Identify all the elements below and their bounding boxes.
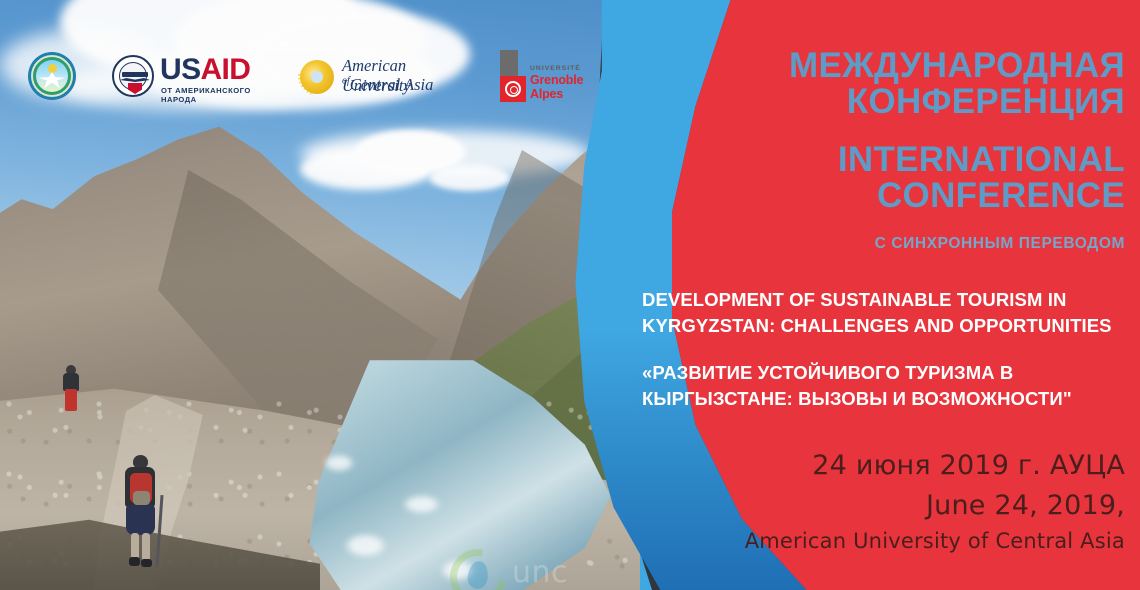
usaid-wordmark: USAID bbox=[160, 53, 250, 87]
heading-en-line2: CONFERENCE bbox=[620, 178, 1125, 214]
usaid-word-aid: AID bbox=[200, 53, 250, 86]
cloud bbox=[430, 165, 510, 191]
usaid-logo: USAID ОТ АМЕРИКАНСКОГО НАРОДА bbox=[112, 52, 264, 100]
auca-central-asia: Central Asia bbox=[350, 75, 434, 94]
event-details: 24 июня 2019 г. АУЦА June 24, 2019, Amer… bbox=[620, 450, 1125, 553]
universite-grenoble-alpes-logo: UNIVERSITÉ Grenoble Alpes bbox=[500, 50, 582, 104]
sponsor-logo-bar: USAID ОТ АМЕРИКАНСКОГО НАРОДА American U… bbox=[0, 0, 600, 130]
grenoble-spiral-icon bbox=[505, 81, 521, 97]
hiker-legs bbox=[65, 389, 77, 411]
usaid-seal-shield-icon bbox=[128, 83, 142, 94]
auca-name-line2: ofCentral Asia bbox=[342, 75, 433, 95]
kyrgyz-republic-emblem-icon bbox=[28, 52, 76, 100]
usaid-seal-bar bbox=[122, 72, 148, 77]
heading-ru-line2: КОНФЕРЕНЦИЯ bbox=[620, 84, 1125, 120]
heading-en-line1: INTERNATIONAL bbox=[620, 142, 1125, 178]
heading-ru-line1: МЕЖДУНАРОДНАЯ bbox=[620, 48, 1125, 84]
usaid-word-us: US bbox=[160, 53, 200, 86]
topic-en-line2: KYRGYZSTAN: CHALLENGES AND OPPORTUNITIES bbox=[642, 313, 1140, 339]
usaid-seal-icon bbox=[112, 55, 154, 97]
grenoble-line1: UNIVERSITÉ bbox=[530, 65, 581, 72]
simultaneous-translation-note: С СИНХРОННЫМ ПЕРЕВОДОМ bbox=[620, 235, 1125, 253]
auca-of: of bbox=[342, 76, 350, 87]
hiker-jacket-waist bbox=[126, 505, 155, 535]
event-venue: American University of Central Asia bbox=[620, 529, 1125, 553]
auca-disc-hole bbox=[311, 71, 323, 83]
grenoble-gray-block bbox=[500, 50, 518, 76]
grenoble-line3: Alpes bbox=[530, 87, 563, 101]
hiker-distant bbox=[60, 365, 82, 411]
event-date-ru: 24 июня 2019 г. АУЦА bbox=[620, 450, 1125, 481]
conference-heading: МЕЖДУНАРОДНАЯ КОНФЕРЕНЦИЯ INTERNATIONAL … bbox=[620, 48, 1125, 214]
topic-ru-line2: КЫРГЫЗСТАНЕ: ВЫЗОВЫ И ВОЗМОЖНОСТИ" bbox=[642, 386, 1140, 412]
auca-logo: American University ofCentral Asia bbox=[298, 52, 476, 100]
hiker-boot-left bbox=[129, 557, 140, 566]
conference-poster: unc USAID ОТ АМЕРИКАНСКОГО НАРОДА bbox=[0, 0, 1140, 590]
poster-text-content: МЕЖДУНАРОДНАЯ КОНФЕРЕНЦИЯ INTERNATIONAL … bbox=[620, 0, 1140, 590]
hiker-backpack-roll bbox=[133, 491, 150, 505]
emblem-sun-icon bbox=[48, 64, 57, 73]
topic-ru-line1: «РАЗВИТИЕ УСТОЙЧИВОГО ТУРИЗМА В bbox=[642, 360, 1140, 386]
hiker-foreground bbox=[118, 455, 162, 567]
auca-sunburst-icon bbox=[298, 56, 338, 96]
conference-topic: DEVELOPMENT OF SUSTAINABLE TOURISM IN KY… bbox=[642, 287, 1140, 411]
usaid-tagline: ОТ АМЕРИКАНСКОГО НАРОДА bbox=[161, 86, 264, 104]
grenoble-line2: Grenoble bbox=[530, 73, 583, 87]
hiker-boot-right bbox=[141, 559, 152, 567]
topic-en-line1: DEVELOPMENT OF SUSTAINABLE TOURISM IN bbox=[642, 287, 1140, 313]
hiker-leg-right bbox=[142, 533, 150, 561]
event-date-en: June 24, 2019, bbox=[620, 490, 1125, 521]
